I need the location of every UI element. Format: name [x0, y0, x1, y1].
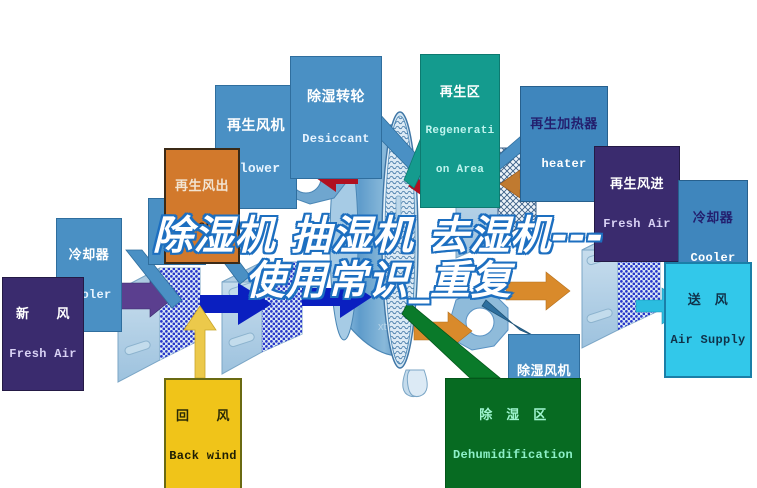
label-regen-area-cn: 再生区 [424, 85, 496, 99]
label-back-wind[interactable]: 回 风 Back wind [164, 378, 242, 488]
leader-dehum-district [402, 302, 500, 378]
label-fresh-air-in-cn: 新 风 [6, 307, 80, 321]
label-heater-en: heater [525, 158, 603, 171]
label-dehumidification-district[interactable]: 除 湿 区 Dehumidification District [445, 378, 581, 488]
dehumidifier-schematic-canvas: xt [0, 0, 757, 488]
label-regen-fresh-air-cn: 再生风进 [599, 177, 675, 191]
label-regen-fresh-air[interactable]: 再生风进 Fresh Air [594, 146, 680, 262]
label-back-wind-en: Back wind [169, 450, 237, 463]
label-fresh-air-in-en: Fresh Air [6, 348, 80, 361]
label-exhaust-en: Exhaust [169, 220, 235, 233]
label-exhaust-cn: 再生风出 [169, 179, 235, 193]
label-regeneration-area[interactable]: 再生区 Regenerati on Area [420, 54, 500, 208]
label-exhaust[interactable]: 再生风出 Exhaust [164, 148, 240, 264]
label-fresh-air-in[interactable]: 新 风 Fresh Air [2, 277, 84, 391]
label-regen-area-en2: on Area [424, 165, 496, 177]
label-regen-fresh-air-en: Fresh Air [599, 218, 675, 231]
label-desiccant-wheel[interactable]: 除湿转轮 Desiccant [290, 56, 382, 179]
label-cooler-left-lower-cn: 冷却器 [60, 248, 118, 262]
label-blower-regen-cn: 再生风机 [220, 118, 292, 133]
label-cooler-right-cn: 冷却器 [682, 211, 744, 225]
label-air-supply-cn: 送 风 [669, 293, 747, 307]
label-desiccant-cn: 除湿转轮 [295, 89, 377, 104]
leader-blower-dehum [482, 300, 534, 336]
label-regen-area-en1: Regenerati [424, 126, 496, 138]
label-heater-cn: 再生加热器 [525, 117, 603, 131]
label-blower-dehum-cn: 除湿风机 [512, 364, 576, 378]
label-air-supply[interactable]: 送 风 Air Supply [664, 262, 752, 378]
label-dehum-district-cn: 除 湿 区 [449, 408, 577, 422]
label-air-supply-en: Air Supply [669, 334, 747, 347]
label-desiccant-en: Desiccant [295, 133, 377, 146]
label-back-wind-cn: 回 风 [169, 409, 237, 423]
label-dehum-district-en1: Dehumidification [449, 449, 577, 462]
